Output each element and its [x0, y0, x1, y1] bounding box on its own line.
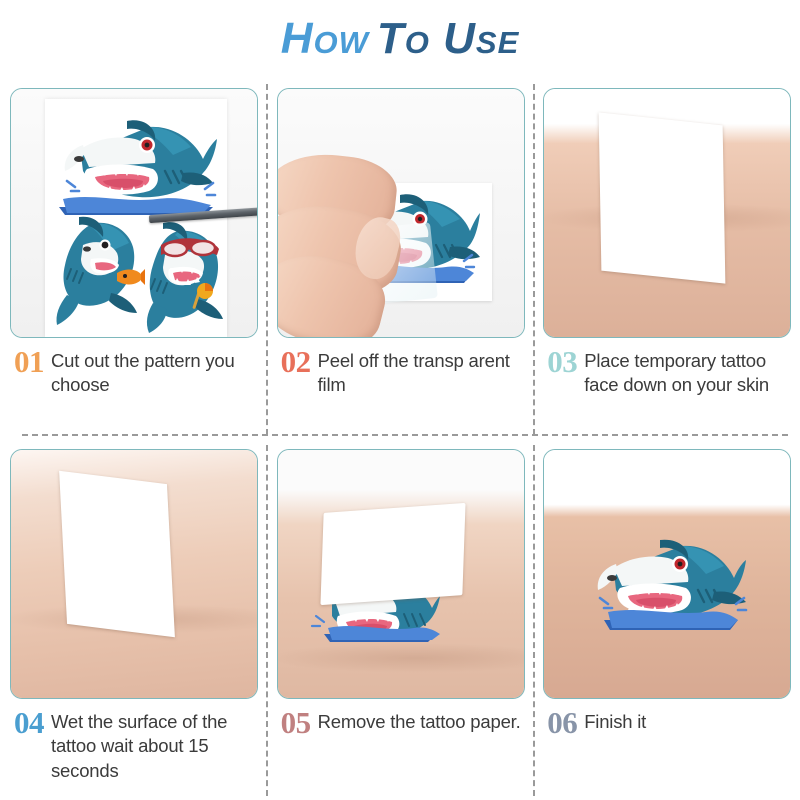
divider-vertical-3 — [266, 445, 268, 796]
step-text-04: Wet the surface of the tattoo wait about… — [51, 708, 257, 783]
step-text-01: Cut out the pattern you choose — [51, 347, 257, 398]
step-text-02: Peel off the transp arent film — [318, 347, 524, 398]
page-title: HowTo Use — [281, 17, 520, 61]
step-cell-02: 02 Peel off the transp arent film — [267, 78, 534, 439]
step-number-01: 01 — [14, 347, 44, 376]
step-image-06 — [543, 449, 791, 699]
step-caption-04: 04 Wet the surface of the tattoo wait ab… — [10, 708, 257, 783]
step-caption-06: 06 Finish it — [543, 708, 790, 737]
divider-vertical-4 — [533, 445, 535, 796]
step-cell-06: 06 Finish it — [533, 439, 800, 800]
lifting-paper — [320, 503, 465, 605]
step-cell-03: 03 Place temporary tattoo face down on y… — [533, 78, 800, 439]
step-number-06: 06 — [547, 708, 577, 737]
step-image-05 — [277, 449, 525, 699]
arm-shadow — [277, 643, 525, 673]
shark-big-icon — [53, 115, 219, 219]
title-part-touse: To Use — [377, 14, 519, 63]
white-paper-square — [599, 112, 726, 283]
steps-row-top: 01 Cut out the pattern you choose — [0, 78, 800, 439]
step-number-02: 02 — [281, 347, 311, 376]
step-cell-05: 05 Remove the tattoo paper. — [267, 439, 534, 800]
step-number-03: 03 — [547, 347, 577, 376]
step-caption-05: 05 Remove the tattoo paper. — [277, 708, 524, 737]
step-text-06: Finish it — [584, 708, 646, 734]
step-image-02 — [277, 88, 525, 338]
wet-paper-square — [59, 471, 175, 638]
divider-horizontal — [22, 434, 788, 436]
divider-vertical-2 — [533, 84, 535, 435]
shark-with-fish-icon — [49, 215, 145, 327]
divider-vertical-1 — [266, 84, 268, 435]
step-number-05: 05 — [281, 708, 311, 737]
step-cell-01: 01 Cut out the pattern you choose — [0, 78, 267, 439]
shark-tattoo-complete-icon — [588, 538, 750, 634]
step-image-03 — [543, 88, 791, 338]
steps-row-bottom: 04 Wet the surface of the tattoo wait ab… — [0, 439, 800, 800]
shark-with-sunglasses-icon — [139, 217, 227, 335]
step-cell-04: 04 Wet the surface of the tattoo wait ab… — [0, 439, 267, 800]
step-caption-03: 03 Place temporary tattoo face down on y… — [543, 347, 790, 398]
step-text-05: Remove the tattoo paper. — [318, 708, 521, 734]
step-image-04 — [10, 449, 258, 699]
steps-grid: 01 Cut out the pattern you choose — [0, 78, 800, 800]
step-image-01 — [10, 88, 258, 338]
step-text-03: Place temporary tattoo face down on your… — [584, 347, 790, 398]
page-header: HowTo Use — [0, 0, 800, 78]
step-caption-01: 01 Cut out the pattern you choose — [10, 347, 257, 398]
step-number-04: 04 — [14, 708, 44, 737]
step-caption-02: 02 Peel off the transp arent film — [277, 347, 524, 398]
title-part-how: How — [281, 14, 369, 63]
